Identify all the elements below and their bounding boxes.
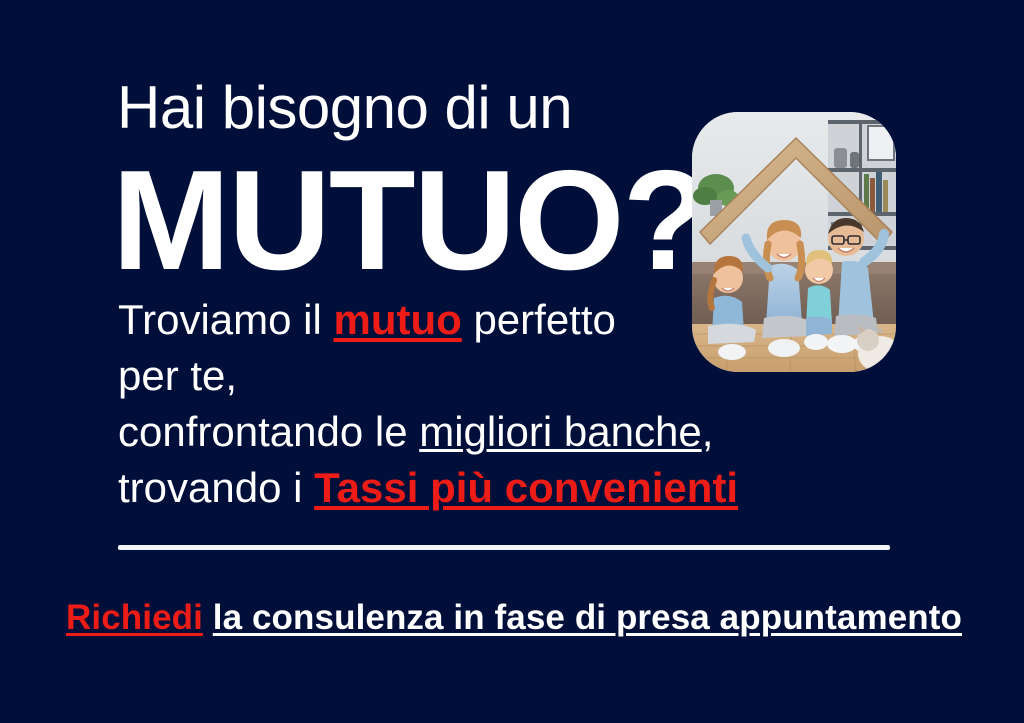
section-divider <box>118 545 890 550</box>
headline-eyebrow: Hai bisogno di un <box>117 78 572 138</box>
family-under-paper-roof-photo <box>692 112 896 372</box>
body-line-1-pre: Troviamo il <box>118 296 333 343</box>
body-line-4: trovando i Tassi più convenienti <box>118 460 908 516</box>
mortgage-promo-poster: Hai bisogno di un MUTUO? Troviamo il mut… <box>0 0 1024 723</box>
body-line-2-text: per te, <box>118 352 237 399</box>
cta-highlight-richiedi[interactable]: Richiedi <box>66 598 203 637</box>
cta-rest: la consulenza in fase di presa appuntame… <box>213 598 962 637</box>
body-line-3-pre: confrontando le <box>118 408 419 455</box>
body-line-3-post: , <box>702 408 714 455</box>
headline-main: MUTUO? <box>112 150 707 292</box>
body-line-1-post: perfetto <box>462 296 616 343</box>
body-line-4-pre: trovando i <box>118 464 314 511</box>
cta-line: Richiedi la consulenza in fase di presa … <box>66 598 962 638</box>
family-photo-illustration <box>692 112 896 372</box>
highlight-migliori-banche: migliori banche <box>419 408 701 455</box>
body-line-3: confrontando le migliori banche, <box>118 404 908 460</box>
highlight-tassi-convenienti: Tassi più convenienti <box>314 464 738 511</box>
highlight-mutuo: mutuo <box>333 296 461 343</box>
